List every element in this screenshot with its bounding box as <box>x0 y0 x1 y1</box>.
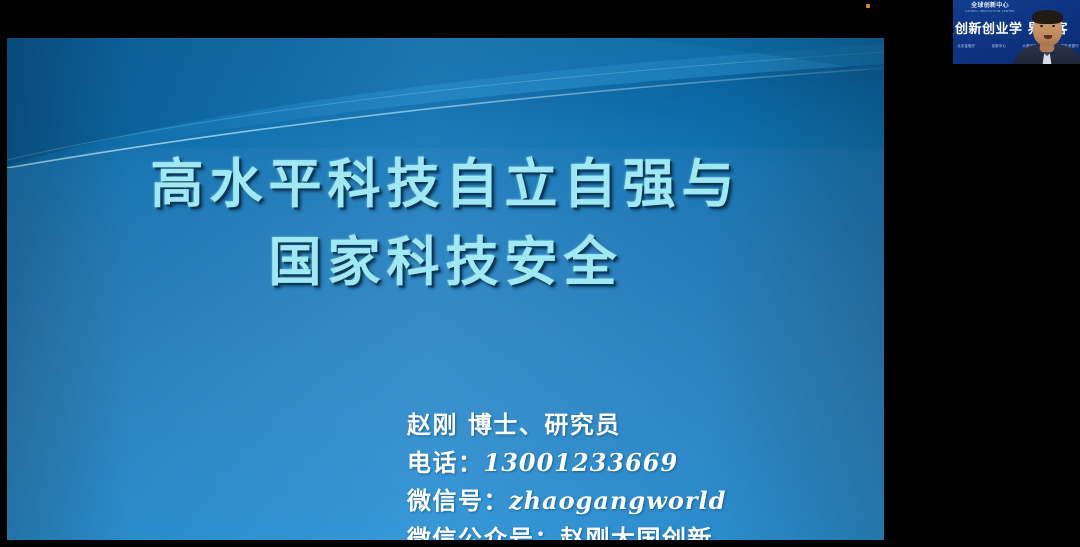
slide-title-line-2: 国家科技安全 <box>7 224 884 302</box>
phone-line: 电话：13001233669 <box>407 444 877 482</box>
wechat-label: 微信号： <box>407 487 509 515</box>
participant-video-tile[interactable]: 全球创新中心 GLOBAL INNOVATION CENTER 创新创业学 界会… <box>953 0 1080 68</box>
participant-eye-left <box>1040 25 1043 27</box>
backdrop-sponsor-1: 北京金融厅 <box>957 44 976 49</box>
video-bottom-letterbox <box>953 64 1080 68</box>
official-account-value: 赵刚大国创新 <box>560 525 713 540</box>
backdrop-logo-en: GLOBAL INNOVATION CENTER <box>963 10 1017 13</box>
wechat-line: 微信号：zhaogangworld <box>407 482 877 520</box>
participant-eye-right <box>1052 25 1055 27</box>
official-account-label: 微信公众号： <box>407 525 560 540</box>
slide-title-line-1: 高水平科技自立自强与 <box>7 146 884 224</box>
official-account-line: 微信公众号：赵刚大国创新 <box>407 520 877 540</box>
presenter-name: 赵刚 博士、研究员 <box>407 406 877 444</box>
participant-mouth <box>1044 35 1052 39</box>
participant-hair <box>1032 10 1063 24</box>
backdrop-sponsor-2: 创新中心 <box>991 44 1006 49</box>
backdrop-logo: 全球创新中心 GLOBAL INNOVATION CENTER <box>963 3 1017 13</box>
slide-title: 高水平科技自立自强与 国家科技安全 <box>7 146 884 302</box>
presentation-slide[interactable]: 高水平科技自立自强与 国家科技安全 赵刚 博士、研究员 电话：130012336… <box>7 38 884 540</box>
phone-label: 电话： <box>407 449 484 477</box>
recording-indicator-dot <box>866 4 870 8</box>
slide-contact-block: 赵刚 博士、研究员 电话：13001233669 微信号：zhaogangwor… <box>407 406 877 540</box>
screen-root: 高水平科技自立自强与 国家科技安全 赵刚 博士、研究员 电话：130012336… <box>0 0 1080 547</box>
wechat-value: zhaogangworld <box>509 486 726 515</box>
phone-value: 13001233669 <box>484 448 679 477</box>
